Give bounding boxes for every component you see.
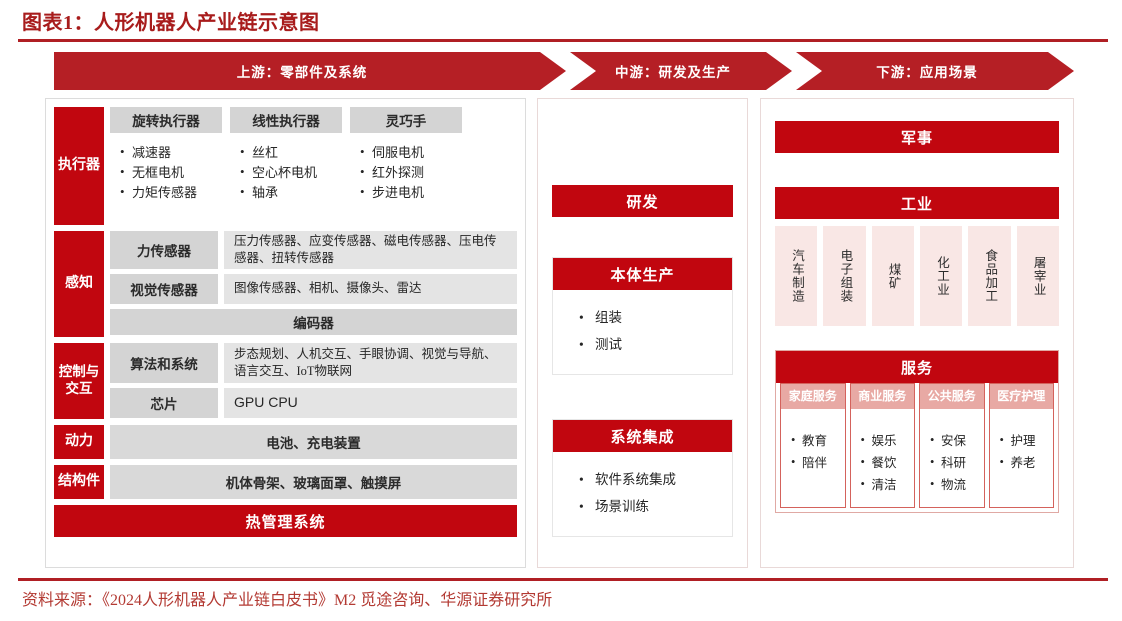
sensing-pair-vision: 视觉传感器 图像传感器、相机、摄像头、雷达: [110, 274, 517, 304]
value-power: 电池、充电装置: [110, 425, 517, 459]
industry-cell: 电子组装: [823, 226, 865, 326]
footer-divider: [18, 578, 1108, 581]
upstream-row-control: 控制与交互 算法和系统 步态规划、人机交互、手眼协调、视觉与导航、语言交互、Io…: [54, 343, 517, 419]
list-item: 力矩传感器: [120, 183, 232, 203]
downstream-industry-bar: 工业: [775, 187, 1059, 219]
list-item: 教育: [791, 431, 845, 453]
value-chip: GPU CPU: [224, 388, 517, 418]
list-item: 安保: [930, 431, 984, 453]
actuator-header-chips: 旋转执行器 线性执行器 灵巧手: [110, 107, 517, 133]
banner-midstream: 中游：研发及生产: [570, 52, 792, 90]
list-item: 餐饮: [861, 453, 915, 475]
list-item: 护理: [1000, 431, 1054, 453]
category-label-sensing: 感知: [54, 231, 104, 337]
list-item: 养老: [1000, 453, 1054, 475]
list-item: 科研: [930, 453, 984, 475]
midstream-rnd-bar: 研发: [552, 185, 733, 217]
list-item: 轴承: [240, 183, 352, 203]
list-item: 场景训练: [579, 493, 732, 520]
service-cell-row: 家庭服务 教育 陪伴 商业服务 娱乐 餐饮 清洁: [776, 383, 1058, 512]
upstream-row-actuator: 执行器 旋转执行器 线性执行器 灵巧手 减速器 无框电机 力矩传感器: [54, 107, 517, 225]
industry-cell: 屠宰业: [1017, 226, 1059, 326]
service-card-header: 商业服务: [851, 384, 915, 409]
source-note: 资料来源：《2024人形机器人产业链白皮书》M2 觅途咨询、华源证券研究所: [22, 586, 552, 610]
midstream-manufacturing-header: 本体生产: [553, 258, 732, 290]
banner-downstream-label: 下游：应用场景: [876, 61, 978, 81]
downstream-military-bar: 军事: [775, 121, 1059, 153]
midstream-integration-card: 系统集成 软件系统集成 场景训练: [552, 419, 733, 537]
list-item: 陪伴: [791, 453, 845, 475]
service-card-header: 医疗护理: [990, 384, 1054, 409]
label-chip: 芯片: [110, 388, 218, 418]
list-item: 娱乐: [861, 431, 915, 453]
value-structure: 机体骨架、玻璃面罩、触摸屏: [110, 465, 517, 499]
bullet-col-linear: 丝杠 空心杯电机 轴承: [240, 143, 352, 203]
sensing-pair-force: 力传感器 压力传感器、应变传感器、磁电传感器、压电传感器、扭转传感器: [110, 231, 517, 269]
category-label-power: 动力: [54, 425, 104, 459]
midstream-panel: 研发 本体生产 组装 测试 系统集成 软件系统集成 场景训练: [537, 98, 748, 568]
service-card-header: 公共服务: [920, 384, 984, 409]
list-item: 空心杯电机: [240, 163, 352, 183]
list-item: 伺服电机: [360, 143, 472, 163]
control-pair-chip: 芯片 GPU CPU: [110, 388, 517, 418]
chip-linear-actuator: 线性执行器: [230, 107, 342, 133]
label-algorithm-system: 算法和系统: [110, 343, 218, 383]
chart-page: 图表1：人形机器人产业链示意图 上游：零部件及系统 中游：研发及生产 下游：应用…: [0, 0, 1122, 621]
downstream-panel: 军事 工业 汽车制造 电子组装 煤矿 化工业 食品加工 屠宰业 服务 家庭服务 …: [760, 98, 1074, 568]
service-card-commercial: 商业服务 娱乐 餐饮 清洁: [850, 383, 916, 508]
upstream-row-sensing: 感知 力传感器 压力传感器、应变传感器、磁电传感器、压电传感器、扭转传感器 视觉…: [54, 231, 517, 337]
actuator-bullet-columns: 减速器 无框电机 力矩传感器 丝杠 空心杯电机 轴承 伺服电机 红外探测: [110, 143, 517, 203]
banner-midstream-label: 中游：研发及生产: [615, 61, 731, 81]
list-item: 软件系统集成: [579, 466, 732, 493]
service-card-public: 公共服务 安保 科研 物流: [919, 383, 985, 508]
value-force-sensor: 压力传感器、应变传感器、磁电传感器、压电传感器、扭转传感器: [224, 231, 517, 269]
list-item: 减速器: [120, 143, 232, 163]
stage-banner-row: 上游：零部件及系统 中游：研发及生产 下游：应用场景: [54, 52, 1074, 90]
banner-upstream-label: 上游：零部件及系统: [237, 61, 368, 81]
list-item: 丝杠: [240, 143, 352, 163]
downstream-service-bar: 服务: [776, 351, 1058, 383]
value-algorithm-system: 步态规划、人机交互、手眼协调、视觉与导航、语言交互、IoT物联网: [224, 343, 517, 383]
upstream-row-structure: 结构件 机体骨架、玻璃面罩、触摸屏: [54, 465, 517, 499]
value-vision-sensor: 图像传感器、相机、摄像头、雷达: [224, 274, 517, 304]
upstream-panel: 执行器 旋转执行器 线性执行器 灵巧手 减速器 无框电机 力矩传感器: [45, 98, 526, 568]
bar-thermal-management: 热管理系统: [54, 505, 517, 537]
control-pair-algorithm: 算法和系统 步态规划、人机交互、手眼协调、视觉与导航、语言交互、IoT物联网: [110, 343, 517, 383]
list-item: 组装: [579, 304, 732, 331]
list-item: 物流: [930, 475, 984, 497]
chip-dexterous-hand: 灵巧手: [350, 107, 462, 133]
list-item: 无框电机: [120, 163, 232, 183]
industry-cell: 食品加工: [968, 226, 1010, 326]
label-vision-sensor: 视觉传感器: [110, 274, 218, 304]
label-force-sensor: 力传感器: [110, 231, 218, 269]
page-title: 图表1：人形机器人产业链示意图: [22, 6, 320, 35]
category-label-control: 控制与交互: [54, 343, 104, 419]
category-label-structure: 结构件: [54, 465, 104, 499]
service-card-header: 家庭服务: [781, 384, 845, 409]
title-divider: [18, 39, 1108, 42]
industry-cell: 汽车制造: [775, 226, 817, 326]
industry-cell-row: 汽车制造 电子组装 煤矿 化工业 食品加工 屠宰业: [775, 226, 1059, 326]
midstream-integration-header: 系统集成: [553, 420, 732, 452]
midstream-manufacturing-card: 本体生产 组装 测试: [552, 257, 733, 375]
category-label-actuator: 执行器: [54, 107, 104, 225]
banner-downstream: 下游：应用场景: [796, 52, 1074, 90]
list-item: 测试: [579, 331, 732, 358]
downstream-service-block: 服务 家庭服务 教育 陪伴 商业服务 娱乐 餐饮: [775, 350, 1059, 513]
bullet-col-rotary: 减速器 无框电机 力矩传感器: [120, 143, 232, 203]
list-item: 步进电机: [360, 183, 472, 203]
industry-cell: 煤矿: [872, 226, 914, 326]
list-item: 红外探测: [360, 163, 472, 183]
upstream-row-power: 动力 电池、充电装置: [54, 425, 517, 459]
banner-upstream: 上游：零部件及系统: [54, 52, 566, 90]
service-card-home: 家庭服务 教育 陪伴: [780, 383, 846, 508]
bar-encoder: 编码器: [110, 309, 517, 335]
chip-rotary-actuator: 旋转执行器: [110, 107, 222, 133]
bullet-col-hand: 伺服电机 红外探测 步进电机: [360, 143, 472, 203]
list-item: 清洁: [861, 475, 915, 497]
industry-cell: 化工业: [920, 226, 962, 326]
service-card-medical: 医疗护理 护理 养老: [989, 383, 1055, 508]
